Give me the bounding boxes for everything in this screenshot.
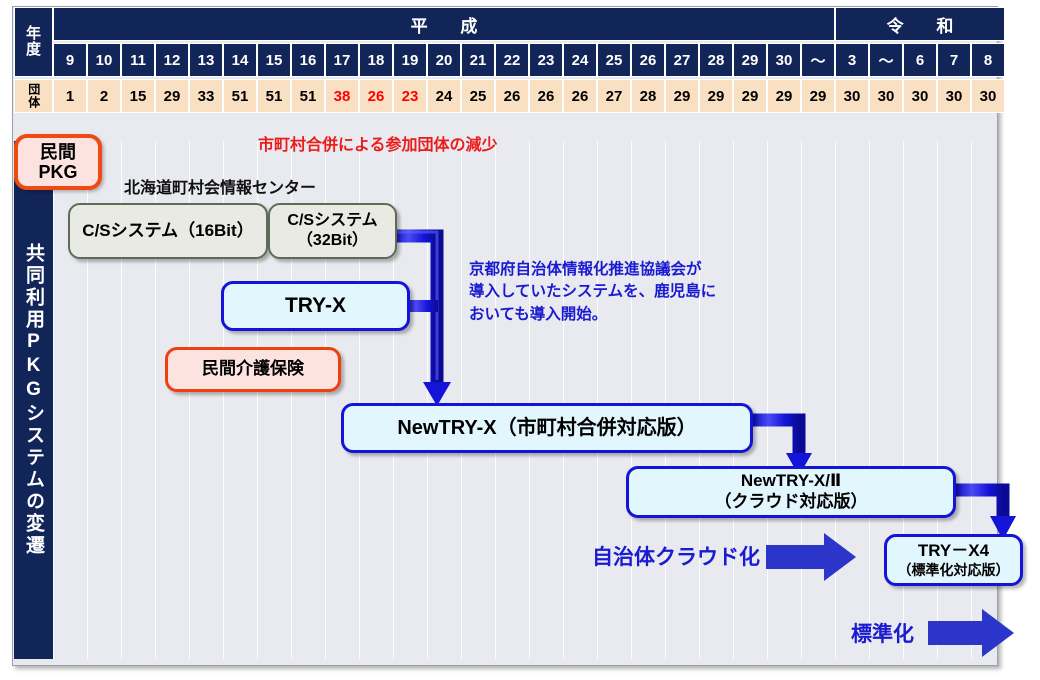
standardization-label: 標準化 [851, 618, 914, 648]
private-pkg-badge: 民間 PKG [14, 134, 102, 190]
count-cell-0: 1 [53, 79, 87, 113]
count-cell-5: 51 [223, 79, 257, 113]
year-cell-16: 16 [291, 43, 325, 77]
box-cs-32bit[interactable]: C/Sシステム （32Bit） [268, 203, 397, 259]
count-cell-1: 2 [87, 79, 121, 113]
gridline-16 [597, 141, 598, 659]
year-cell-22: 22 [495, 43, 529, 77]
count-cell-9: 26 [359, 79, 393, 113]
count-cell-18: 29 [665, 79, 699, 113]
count-cell-3: 29 [155, 79, 189, 113]
box-cs-32bit-line2: （32Bit） [297, 231, 368, 251]
count-cell-10: 23 [393, 79, 427, 113]
sidebar-vertical-title: 共同利用PKGシステムの変遷 [14, 141, 53, 659]
year-cell-26: 26 [631, 43, 665, 77]
gridline-13 [495, 141, 496, 659]
year-cell-15: 15 [257, 43, 291, 77]
year-label-cell: 年 度 [14, 7, 53, 77]
count-cell-26: 30 [937, 79, 971, 113]
count-cell-22: 29 [801, 79, 835, 113]
year-cell-24: 24 [563, 43, 597, 77]
year-cell-6: 6 [903, 43, 937, 77]
year-cell-〜: 〜 [869, 43, 903, 77]
box-cs-32bit-line1: C/Sシステム [287, 211, 377, 231]
center-name-label: 北海道町村会情報センター [124, 174, 316, 198]
count-cell-19: 29 [699, 79, 733, 113]
year-cell-3: 3 [835, 43, 869, 77]
year-cell-23: 23 [529, 43, 563, 77]
gridline-17 [631, 141, 632, 659]
year-cell-21: 21 [461, 43, 495, 77]
count-cell-7: 51 [291, 79, 325, 113]
count-label-text: 団体 [27, 83, 40, 109]
cloud-label: 自治体クラウド化 [592, 541, 760, 571]
count-cell-25: 30 [903, 79, 937, 113]
year-table: 平 成令 和 年 度 91011121314151617181920212223… [14, 7, 1005, 113]
diagram-canvas: 平 成令 和 年 度 91011121314151617181920212223… [0, 0, 1040, 680]
box-newtryx2[interactable]: NewTRY-X/Ⅱ （クラウド対応版） [626, 466, 956, 518]
year-row: 年 度 910111213141516171819202122232425262… [14, 43, 1005, 77]
year-cell-18: 18 [359, 43, 393, 77]
year-cell-17: 17 [325, 43, 359, 77]
count-cell-8: 38 [325, 79, 359, 113]
kyoto-note-line2: 導入していたシステムを、鹿児島に [469, 281, 716, 303]
gridline-22 [801, 141, 802, 659]
private-pkg-badge-line1: 民間 [40, 142, 76, 162]
count-cell-11: 24 [427, 79, 461, 113]
gridline-24 [869, 141, 870, 659]
gridline-20 [733, 141, 734, 659]
year-cell-14: 14 [223, 43, 257, 77]
box-newtryx2-line2: （クラウド対応版） [715, 492, 868, 513]
count-cell-6: 51 [257, 79, 291, 113]
gridline-18 [665, 141, 666, 659]
box-tryx4-line2: （標準化対応版） [898, 562, 1010, 579]
private-pkg-badge-line2: PKG [38, 162, 77, 182]
year-cell-19: 19 [393, 43, 427, 77]
year-cell-27: 27 [665, 43, 699, 77]
era-row: 平 成令 和 [14, 7, 1005, 41]
count-cell-13: 26 [495, 79, 529, 113]
era-cell-1: 令 和 [835, 7, 1005, 41]
count-cell-2: 15 [121, 79, 155, 113]
year-cell-28: 28 [699, 43, 733, 77]
gridline-14 [529, 141, 530, 659]
gridline-23 [835, 141, 836, 659]
count-cell-14: 26 [529, 79, 563, 113]
count-cell-16: 27 [597, 79, 631, 113]
kyoto-note: 京都府自治体情報化推進協議会が 導入していたシステムを、鹿児島に おいても導入開… [469, 259, 716, 326]
count-cell-27: 30 [971, 79, 1005, 113]
year-label-char1: 年 [26, 26, 41, 42]
kyoto-note-line3: おいても導入開始。 [469, 304, 716, 326]
count-row: 団体 1215293351515138262324252626262728292… [14, 79, 1005, 113]
year-cell-30: 30 [767, 43, 801, 77]
year-label-char2: 度 [26, 42, 41, 58]
gridline-11 [427, 141, 428, 659]
count-cell-15: 26 [563, 79, 597, 113]
box-cs-16bit[interactable]: C/Sシステム（16Bit） [68, 203, 268, 259]
count-cell-21: 29 [767, 79, 801, 113]
box-private-insurance[interactable]: 民間介護保険 [165, 347, 341, 392]
gridline-21 [767, 141, 768, 659]
count-cell-17: 28 [631, 79, 665, 113]
box-tryx[interactable]: TRY-X [221, 281, 410, 331]
count-cell-24: 30 [869, 79, 903, 113]
year-cell-12: 12 [155, 43, 189, 77]
year-cell-10: 10 [87, 43, 121, 77]
gridline-0 [53, 141, 54, 659]
year-cell-11: 11 [121, 43, 155, 77]
gridline-15 [563, 141, 564, 659]
era-cell-0: 平 成 [53, 7, 835, 41]
box-tryx4-line1: TRY－X4 [918, 541, 989, 562]
gridline-12 [461, 141, 462, 659]
count-cell-4: 33 [189, 79, 223, 113]
year-cell-13: 13 [189, 43, 223, 77]
box-tryx4[interactable]: TRY－X4 （標準化対応版） [884, 534, 1023, 586]
count-cell-12: 25 [461, 79, 495, 113]
year-cell-〜: 〜 [801, 43, 835, 77]
count-label-cell: 団体 [14, 79, 53, 113]
box-newtryx[interactable]: NewTRY-X（市町村合併対応版） [341, 403, 753, 453]
year-cell-7: 7 [937, 43, 971, 77]
count-cell-23: 30 [835, 79, 869, 113]
gridline-19 [699, 141, 700, 659]
year-cell-20: 20 [427, 43, 461, 77]
year-cell-9: 9 [53, 43, 87, 77]
count-cell-20: 29 [733, 79, 767, 113]
year-cell-25: 25 [597, 43, 631, 77]
kyoto-note-line1: 京都府自治体情報化推進協議会が [469, 259, 716, 281]
year-cell-29: 29 [733, 43, 767, 77]
box-newtryx2-line1: NewTRY-X/Ⅱ [741, 471, 841, 492]
year-cell-8: 8 [971, 43, 1005, 77]
merger-note: 市町村合併による参加団体の減少 [258, 131, 498, 155]
